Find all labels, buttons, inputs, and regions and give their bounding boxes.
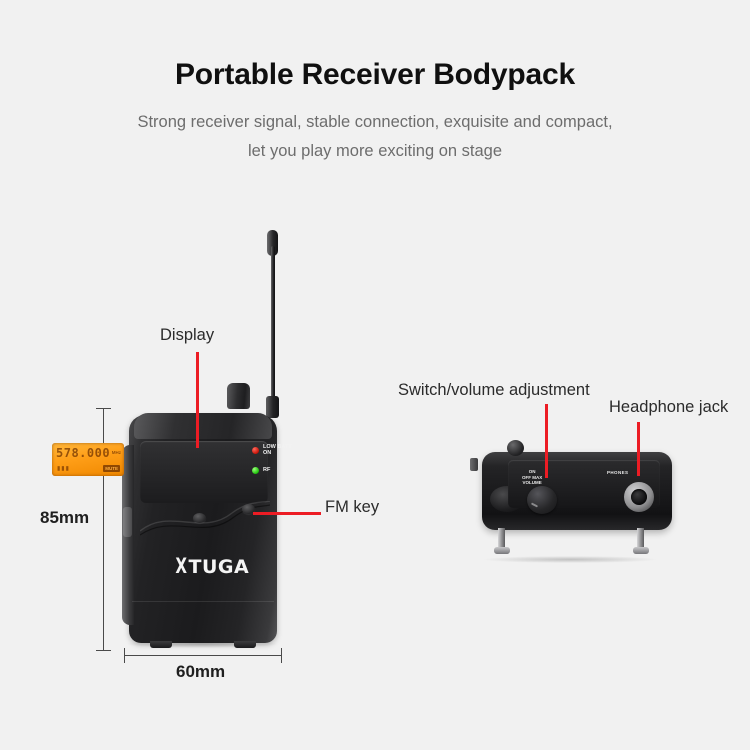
led-row-low-batt: LOW BATT ON: [252, 440, 292, 460]
led-row-rf: RF: [252, 460, 292, 480]
callout-label-switch-volume: Switch/volume adjustment: [398, 381, 590, 400]
leader-line-fm-key: [253, 512, 321, 515]
front-button-left: [193, 513, 206, 523]
callout-label-headphone-jack: Headphone jack: [609, 398, 728, 417]
bent-antenna-knob: [507, 440, 524, 456]
clip-leg-right-foot: [633, 547, 649, 554]
phones-legend: PHONES: [607, 470, 628, 475]
clip-leg-left-foot: [494, 547, 510, 554]
volume-legend-line3: VOLUME: [522, 480, 541, 485]
front-foot-right: [234, 641, 256, 648]
lcd-frequency-unit: MHz: [112, 450, 121, 455]
page-title: Portable Receiver Bodypack: [0, 58, 750, 92]
callout-label-fm-key: FM key: [325, 498, 379, 517]
volume-legend-line1: ON: [529, 469, 536, 474]
brand-x-glyph: X: [175, 554, 187, 578]
volume-legend-line2: OFF MAX: [522, 475, 542, 480]
lcd-frequency-value: 578.000: [56, 447, 110, 459]
front-battery-seam: [132, 601, 274, 602]
leader-line-switch-volume: [545, 404, 548, 478]
width-dimension-label: 60mm: [176, 662, 225, 682]
volume-knob-legend: ON OFF MAX VOLUME: [522, 469, 542, 486]
height-dimension-label: 85mm: [40, 508, 89, 528]
led-red-icon: [252, 447, 259, 454]
led-green-icon: [252, 467, 259, 474]
led-low-batt-line2: ON: [263, 450, 271, 456]
brand-name-text: TUGA: [189, 556, 250, 578]
led-low-batt-label: LOW BATT ON: [263, 444, 292, 457]
leader-line-display: [196, 352, 199, 448]
brand-logo: XTUGA: [168, 554, 254, 578]
subtitle-line-2: let you play more exciting on stage: [0, 137, 750, 166]
front-top-bevel: [134, 413, 272, 439]
front-faceplate: [140, 441, 268, 503]
lcd-display: 578.000 MHz ▮▮▮ MUTE: [52, 443, 124, 476]
volume-knob: [527, 486, 557, 514]
front-side-button: [123, 507, 132, 537]
belt-clip-leg-left: [494, 528, 511, 554]
led-low-batt-line1: LOW BATT: [263, 444, 292, 450]
front-foot-left: [150, 641, 172, 648]
leader-line-headphone-jack: [637, 422, 640, 476]
led-rf-label: RF: [263, 467, 270, 474]
antenna-rod: [271, 246, 275, 412]
callout-label-display: Display: [160, 326, 214, 345]
headphone-jack-hole: [631, 489, 647, 505]
led-indicator-group: LOW BATT ON RF: [252, 440, 292, 480]
lcd-signal-bars: ▮▮▮: [57, 466, 70, 472]
width-dimension-line: [124, 655, 282, 656]
top-side-button: [470, 458, 478, 471]
page-subtitle: Strong receiver signal, stable connectio…: [0, 108, 750, 166]
subtitle-line-1: Strong receiver signal, stable connectio…: [0, 108, 750, 137]
lcd-mute-badge: MUTE: [103, 465, 120, 472]
belt-clip-leg-right: [633, 528, 650, 554]
infographic-canvas: Portable Receiver Bodypack Strong receiv…: [0, 0, 750, 750]
